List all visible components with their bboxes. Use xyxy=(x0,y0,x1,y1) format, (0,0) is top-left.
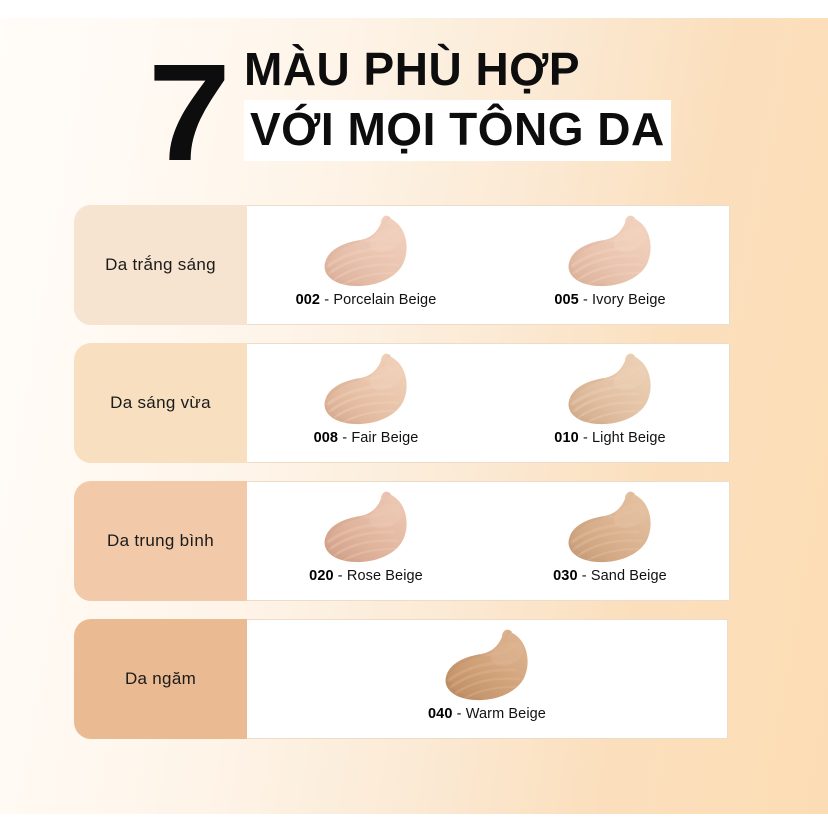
foundation-swatch-icon xyxy=(314,214,418,288)
shade-name: Fair Beige xyxy=(351,430,418,446)
shade-rows: Da trắng sáng xyxy=(74,205,728,739)
headline-line-2: VỚI MỌI TÔNG DA xyxy=(250,104,665,154)
shade-name: Light Beige xyxy=(592,430,666,446)
swatch-cell[interactable]: 030 - Sand Beige xyxy=(491,482,729,600)
row-label-pill-3: Da ngăm xyxy=(74,619,247,739)
shade-label: 020 - Rose Beige xyxy=(309,568,423,584)
swatch-cell[interactable]: 008 - Fair Beige xyxy=(247,344,485,462)
swatch-cell[interactable]: 020 - Rose Beige xyxy=(247,482,485,600)
shade-name: Ivory Beige xyxy=(592,292,666,308)
shade-row: Da sáng vừa xyxy=(74,343,728,463)
shade-label: 008 - Fair Beige xyxy=(314,430,419,446)
shade-name: Sand Beige xyxy=(591,568,667,584)
shade-separator: - xyxy=(582,568,587,584)
shade-separator: - xyxy=(583,430,588,446)
shade-separator: - xyxy=(342,430,347,446)
shade-name: Warm Beige xyxy=(466,706,546,722)
poster-canvas: 7 MÀU PHÙ HỢP VỚI MỌI TÔNG DA Da trắng s… xyxy=(0,0,828,828)
shade-row: Da trắng sáng xyxy=(74,205,728,325)
headline-block: 7 MÀU PHÙ HỢP VỚI MỌI TÔNG DA xyxy=(0,42,828,172)
shade-label: 002 - Porcelain Beige xyxy=(296,292,437,308)
shade-code: 010 xyxy=(554,430,579,446)
shade-code: 030 xyxy=(553,568,578,584)
shade-separator: - xyxy=(583,292,588,308)
row-label-text: Da trung bình xyxy=(107,531,214,551)
row-label-text: Da trắng sáng xyxy=(105,255,216,275)
shade-label: 010 - Light Beige xyxy=(554,430,665,446)
headline-line-1: MÀU PHÙ HỢP xyxy=(244,42,671,96)
row-label-text: Da ngăm xyxy=(125,669,196,689)
shade-separator: - xyxy=(324,292,329,308)
foundation-swatch-icon xyxy=(435,628,539,702)
shade-code: 020 xyxy=(309,568,334,584)
foundation-swatch-icon xyxy=(558,214,662,288)
shade-name: Porcelain Beige xyxy=(333,292,436,308)
headline-text-group: MÀU PHÙ HỢP VỚI MỌI TÔNG DA xyxy=(244,42,671,161)
row-label-pill-0: Da trắng sáng xyxy=(74,205,247,325)
foundation-swatch-icon xyxy=(558,490,662,564)
swatch-cell[interactable]: 002 - Porcelain Beige xyxy=(247,206,485,324)
row-label-pill-2: Da trung bình xyxy=(74,481,247,601)
shade-row: Da ngăm xyxy=(74,619,728,739)
row-panel: 002 - Porcelain Beige xyxy=(247,205,730,325)
row-panel: 008 - Fair Beige xyxy=(247,343,730,463)
shade-name: Rose Beige xyxy=(347,568,423,584)
headline-line-2-highlight: VỚI MỌI TÔNG DA xyxy=(244,100,671,161)
swatch-cell[interactable]: 005 - Ivory Beige xyxy=(491,206,729,324)
foundation-swatch-icon xyxy=(314,352,418,426)
shade-separator: - xyxy=(338,568,343,584)
swatch-cell[interactable]: 010 - Light Beige xyxy=(491,344,729,462)
shade-code: 002 xyxy=(296,292,321,308)
shade-label: 030 - Sand Beige xyxy=(553,568,667,584)
foundation-swatch-icon xyxy=(314,490,418,564)
shade-code: 005 xyxy=(554,292,579,308)
row-label-pill-1: Da sáng vừa xyxy=(74,343,247,463)
shade-separator: - xyxy=(457,706,462,722)
shade-code: 040 xyxy=(428,706,453,722)
row-label-text: Da sáng vừa xyxy=(110,393,211,413)
row-panel: 040 - Warm Beige xyxy=(247,619,728,739)
headline-number: 7 xyxy=(148,44,227,182)
shade-label: 005 - Ivory Beige xyxy=(554,292,665,308)
bottom-bleed-band xyxy=(0,814,828,828)
foundation-swatch-icon xyxy=(558,352,662,426)
top-bleed-band xyxy=(0,0,828,18)
shade-label: 040 - Warm Beige xyxy=(428,706,546,722)
shade-code: 008 xyxy=(314,430,339,446)
shade-row: Da trung bình xyxy=(74,481,728,601)
swatch-cell[interactable]: 040 - Warm Beige xyxy=(368,620,606,738)
row-panel: 020 - Rose Beige xyxy=(247,481,730,601)
